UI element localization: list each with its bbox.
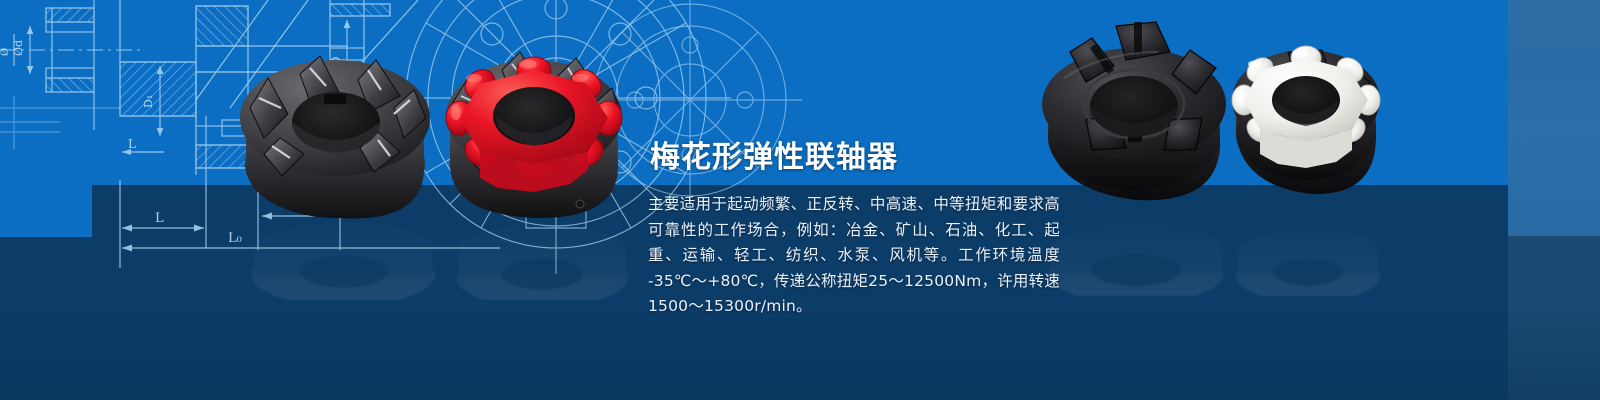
product-banner: Ød Ø [0,0,1600,400]
reflection-left-products [236,182,656,300]
coupling-with-white-spider [1232,46,1380,194]
svg-text:D₁: D₁ [142,95,155,108]
product-description: 主要适用于起动频繁、正反转、中高速、中等扭矩和要求高可靠性的工作场合，例如：冶金… [648,192,1060,320]
product-description-text: 主要适用于起动频繁、正反转、中高速、中等扭矩和要求高可靠性的工作场合，例如：冶金… [648,192,1060,320]
coupling-hub-black-right [1042,22,1226,200]
svg-text:L: L [128,137,136,151]
svg-text:Ø: Ø [0,48,11,56]
svg-text:L: L [155,211,164,226]
page-title: 梅花形弹性联轴器 [650,138,898,178]
reflection-right-products [1032,184,1382,296]
product-image-right-pair [1030,8,1380,208]
